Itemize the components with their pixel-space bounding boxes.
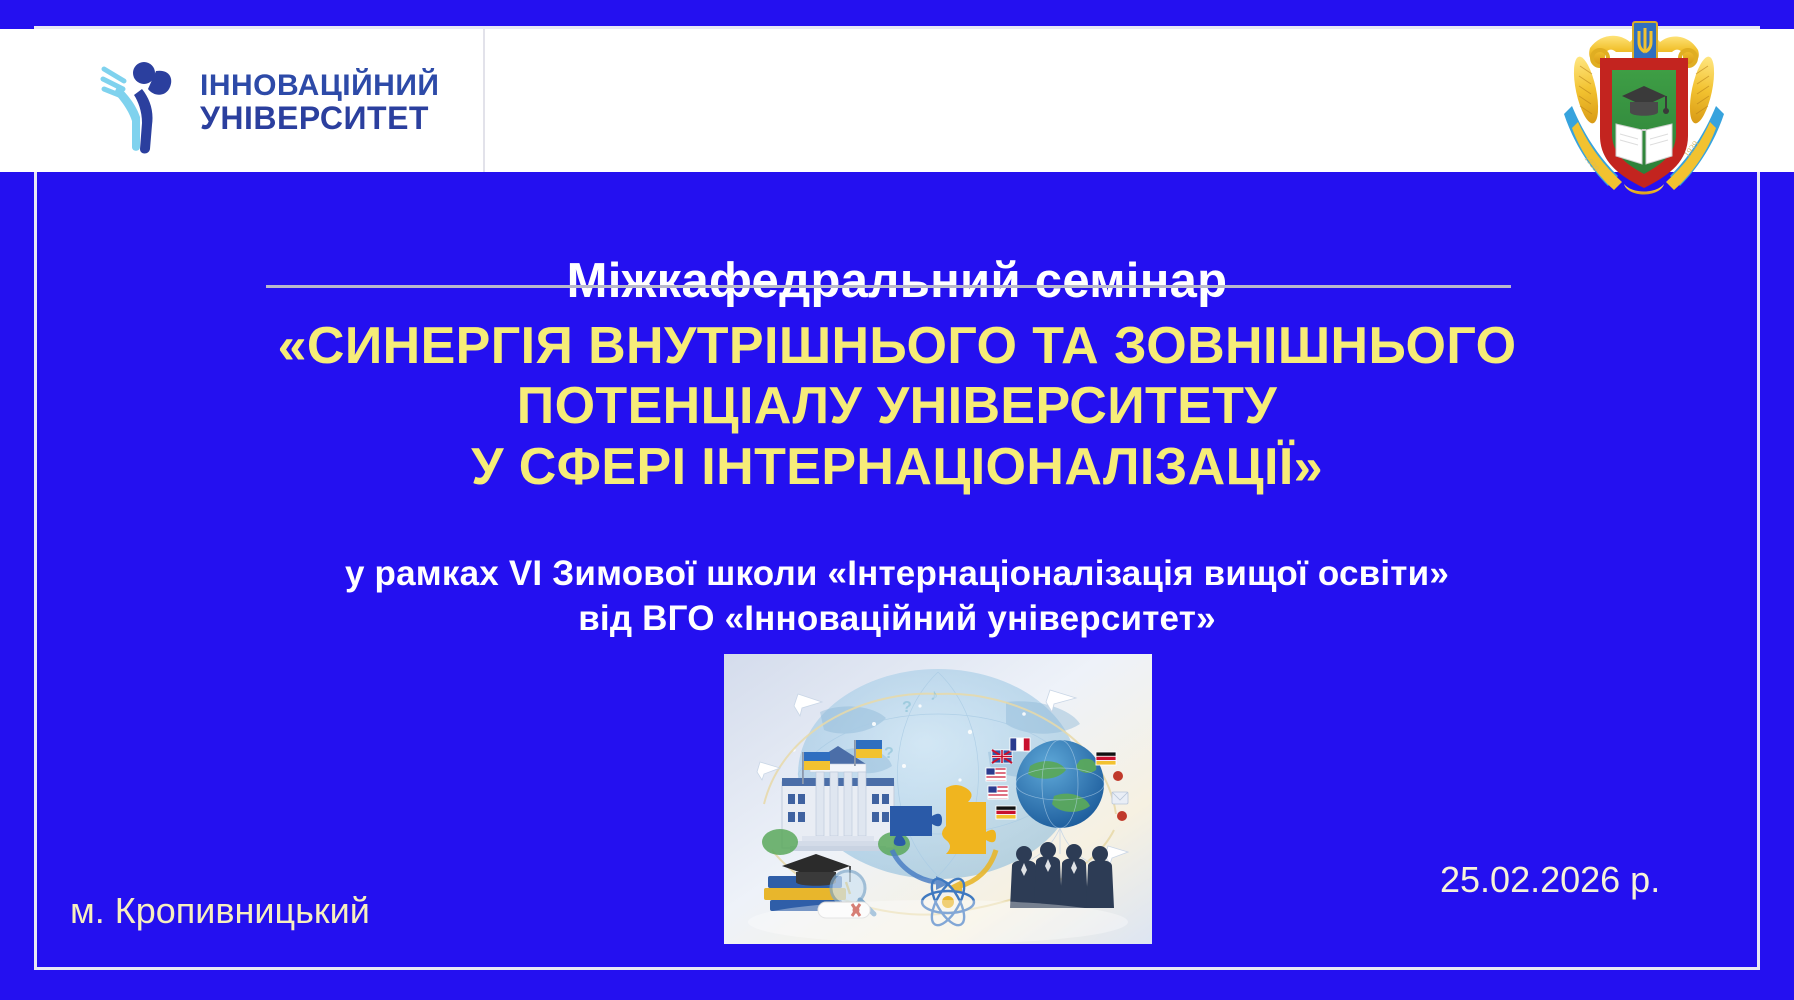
university-logo-text: ІННОВАЦІЙНИЙ УНІВЕРСИТЕТ <box>200 71 439 134</box>
seminar-label: Міжкафедральний семінар <box>0 255 1794 308</box>
innovative-university-figure-logo-icon <box>100 51 186 155</box>
main-title-line-1: «СИНЕРГІЯ ВНУТРІШНЬОГО ТА ЗОВНІШНЬОГО <box>0 316 1794 376</box>
svg-text:?: ? <box>884 745 894 762</box>
subtitle-block: у рамках VI Зимової школи «Інтернаціонал… <box>0 552 1794 642</box>
subtitle-line-1: у рамках VI Зимової школи «Інтернаціонал… <box>0 552 1794 597</box>
date-label: 25.02.2026 р. <box>1440 859 1660 901</box>
logo-line-2: УНІВЕРСИТЕТ <box>200 102 439 135</box>
main-title-line-3: У СФЕРІ ІНТЕРНАЦІОНАЛІЗАЦІЇ» <box>0 437 1794 497</box>
svg-text:♪: ♪ <box>930 687 938 704</box>
main-title: «СИНЕРГІЯ ВНУТРІШНЬОГО ТА ЗОВНІШНЬОГО ПО… <box>0 316 1794 497</box>
kirovohrad-oblast-coat-of-arms-icon: 1939 1939 <box>1560 18 1728 203</box>
presentation-slide: ІННОВАЦІЙНИЙ УНІВЕРСИТЕТ <box>0 0 1794 1000</box>
logo-line-1: ІННОВАЦІЙНИЙ <box>200 71 439 102</box>
header-divider <box>483 29 485 172</box>
svg-text:?: ? <box>902 699 912 716</box>
subtitle-line-2: від ВГО «Інноваційний університет» <box>0 597 1794 642</box>
main-title-line-2: ПОТЕНЦІАЛУ УНІВЕРСИТЕТУ <box>0 376 1794 436</box>
university-logo: ІННОВАЦІЙНИЙ УНІВЕРСИТЕТ <box>100 48 430 158</box>
title-underline-rule <box>266 285 1511 288</box>
city-label: м. Кропивницький <box>70 890 370 932</box>
title-block: Міжкафедральний семінар «СИНЕРГІЯ ВНУТРІ… <box>0 255 1794 497</box>
internationalization-collage-image: ? ♪ ? <box>724 654 1152 944</box>
